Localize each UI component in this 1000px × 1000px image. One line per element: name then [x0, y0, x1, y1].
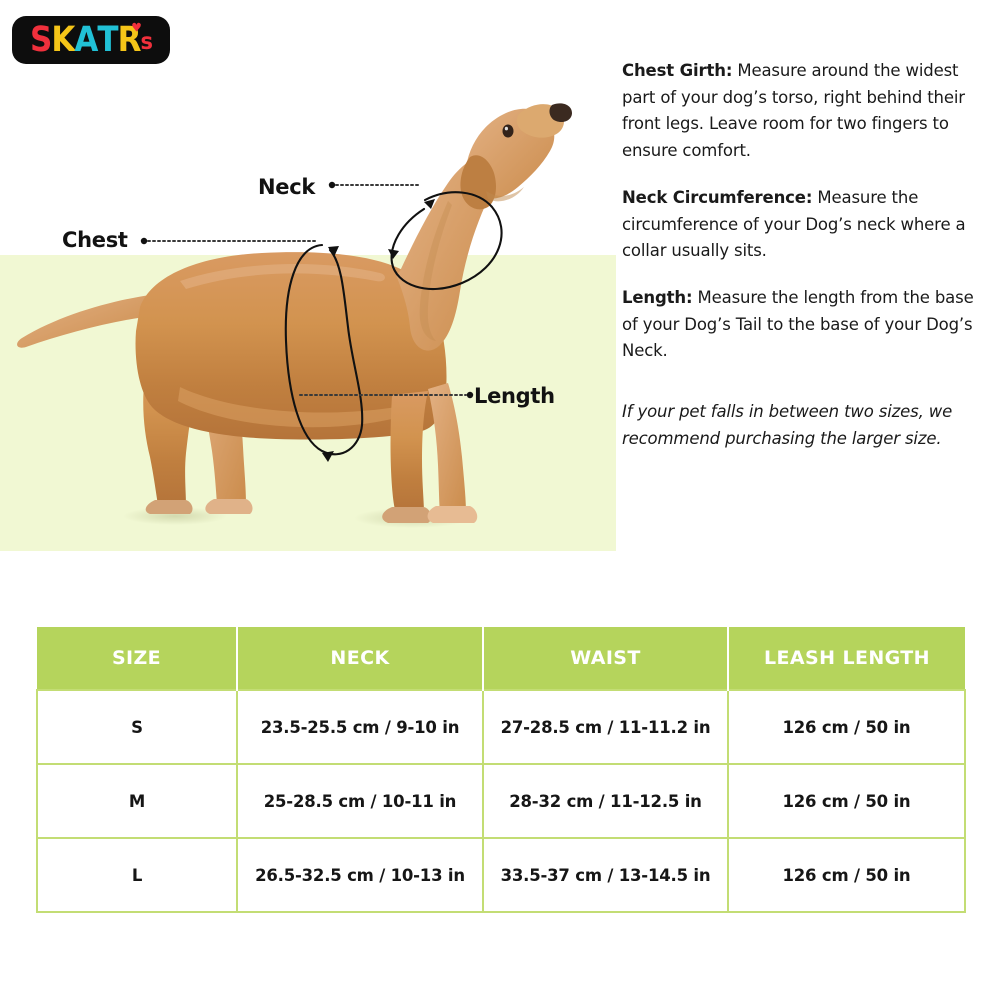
heart-icon: ♥ — [131, 21, 141, 33]
cell-neck: 26.5-32.5 cm / 10-13 in — [237, 838, 483, 912]
logo-letter-s2: s — [140, 29, 152, 53]
cell-size: S — [37, 690, 237, 764]
size-chart-table-container: SIZE NECK WAIST LEASH LENGTH S 23.5-25.5… — [36, 627, 964, 913]
cell-neck: 23.5-25.5 cm / 9-10 in — [237, 690, 483, 764]
callout-label-length: Length — [474, 384, 555, 408]
table-row: M 25-28.5 cm / 10-11 in 28-32 cm / 11-12… — [37, 764, 965, 838]
cell-waist: 28-32 cm / 11-12.5 in — [483, 764, 728, 838]
callout-label-neck: Neck — [258, 175, 315, 199]
column-header-size: SIZE — [37, 627, 237, 690]
table-row: S 23.5-25.5 cm / 9-10 in 27-28.5 cm / 11… — [37, 690, 965, 764]
cell-size: M — [37, 764, 237, 838]
instruction-term-chest-girth: Chest Girth: — [622, 61, 732, 80]
cell-waist: 33.5-37 cm / 13-14.5 in — [483, 838, 728, 912]
instruction-term-length: Length: — [622, 288, 692, 307]
column-header-neck: NECK — [237, 627, 483, 690]
table-row: L 26.5-32.5 cm / 10-13 in 33.5-37 cm / 1… — [37, 838, 965, 912]
instruction-term-neck-circumference: Neck Circumference: — [622, 188, 812, 207]
instruction-neck-circumference: Neck Circumference: Measure the circumfe… — [622, 185, 984, 265]
logo-letter-t: T — [97, 23, 117, 58]
instruction-chest-girth: Chest Girth: Measure around the widest p… — [622, 58, 984, 165]
measurement-instructions: Chest Girth: Measure around the widest p… — [622, 58, 984, 453]
logo-letter-a: A — [74, 23, 97, 58]
cell-leash: 126 cm / 50 in — [728, 838, 965, 912]
cell-size: L — [37, 838, 237, 912]
cell-leash: 126 cm / 50 in — [728, 690, 965, 764]
instruction-length: Length: Measure the length from the base… — [622, 285, 984, 365]
cell-waist: 27-28.5 cm / 11-11.2 in — [483, 690, 728, 764]
sizing-note: If your pet falls in between two sizes, … — [622, 399, 984, 452]
brand-logo-wordmark: SKATRs♥ — [30, 23, 152, 58]
column-header-leash-length: LEASH LENGTH — [728, 627, 965, 690]
table-header-row: SIZE NECK WAIST LEASH LENGTH — [37, 627, 965, 690]
cell-neck: 25-28.5 cm / 10-11 in — [237, 764, 483, 838]
column-header-waist: WAIST — [483, 627, 728, 690]
logo-letter-k: K — [51, 23, 74, 58]
brand-logo: SKATRs♥ — [12, 16, 170, 64]
cell-leash: 126 cm / 50 in — [728, 764, 965, 838]
callout-label-chest: Chest — [62, 228, 128, 252]
size-chart-table: SIZE NECK WAIST LEASH LENGTH S 23.5-25.5… — [36, 627, 966, 913]
dog-measurement-diagram — [0, 95, 616, 555]
logo-letter-s: S — [30, 23, 51, 58]
